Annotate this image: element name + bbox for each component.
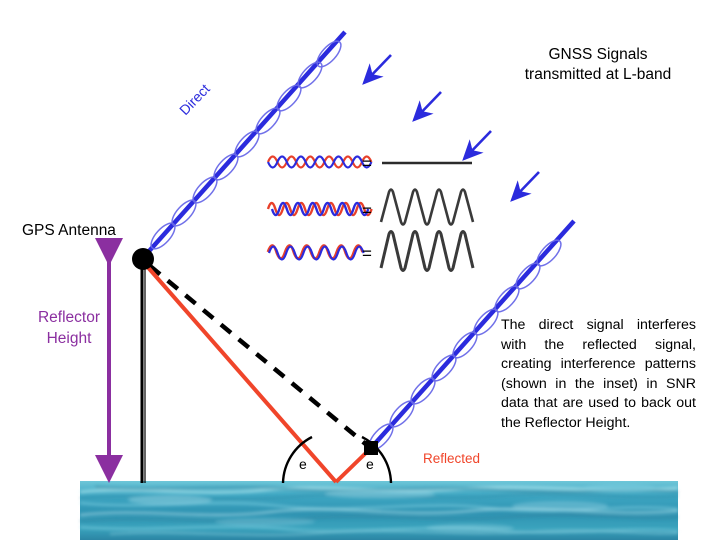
inset-row2-result-wave <box>381 190 473 225</box>
gps-antenna-marker <box>132 248 154 270</box>
gnss-arrow-3 <box>464 131 491 159</box>
gnss-arrow-4 <box>512 172 539 200</box>
gnss-signals-title: GNSS Signals transmitted at L-band <box>498 45 698 85</box>
antenna-mast <box>142 262 145 483</box>
elevation-angle-label-left: e <box>299 456 307 472</box>
inset-row-constructive: = <box>268 232 473 271</box>
water-surface <box>80 481 678 540</box>
inset-row-partial: = <box>268 190 473 225</box>
elevation-angle-label-right: e <box>366 456 374 472</box>
inset-row3-result-wave <box>381 232 473 271</box>
gnss-arrow-1 <box>364 55 391 83</box>
gps-antenna-label: GPS Antenna <box>22 222 116 240</box>
inset-row-destructive: = <box>268 154 472 173</box>
inset-equals-1: = <box>362 154 372 173</box>
interference-inset: = = = <box>268 154 473 271</box>
reflector-height-label: Reflector Height <box>24 307 114 349</box>
diagram-canvas: = = = GNSS Signals transmitted at L-band… <box>0 0 720 540</box>
description-paragraph: The direct signal interferes with the re… <box>501 316 696 433</box>
reflected-signal-ray <box>145 264 371 482</box>
inset-equals-3: = <box>362 244 372 263</box>
angle-arc-left <box>283 437 312 483</box>
dashed-direct-path <box>150 266 368 446</box>
direct-signal-ray <box>142 32 345 259</box>
gnss-arrow-2 <box>414 92 441 120</box>
reflected-signal-label: Reflected <box>423 451 480 466</box>
specular-point-marker <box>364 441 378 455</box>
inset-equals-2: = <box>362 201 372 220</box>
